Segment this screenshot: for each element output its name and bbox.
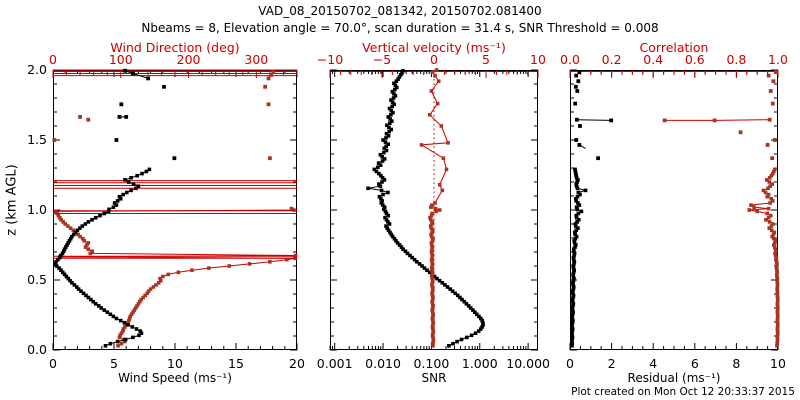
panel2-xtick-1.000: 1.000 [462, 356, 498, 371]
panel3-xtick-0: 0 [566, 356, 574, 371]
panel1-top-xtick-200: 200 [177, 52, 201, 67]
panel3-top-xtick-0.8: 0.8 [726, 52, 746, 67]
figure-title: VAD_08_20150702_081342, 20150702.081400 [258, 4, 541, 18]
panel2-top-xtick-5: 5 [482, 52, 490, 67]
panel1-x-axis-label: Wind Speed (ms⁻¹) [118, 371, 232, 385]
y-tick-1.5: 1.5 [27, 132, 47, 147]
panel3-xtick-2: 2 [608, 356, 616, 371]
plot-timestamp: Plot created on Mon Oct 12 20:33:37 2015 [571, 386, 795, 398]
panel-wind [53, 70, 297, 350]
panel1-top-xtick-0: 0 [49, 52, 57, 67]
panel1-top-axis-rule [54, 71, 296, 72]
panel2-xtick-0.100: 0.100 [414, 356, 450, 371]
figure-subtitle: Nbeams = 8, Elevation angle = 70.0°, sca… [141, 21, 658, 35]
panel2-top-axis-rule [331, 71, 537, 72]
panel1-top-xtick-300: 300 [244, 52, 268, 67]
panel1-xtick-5: 5 [110, 356, 118, 371]
panel3-top-xtick-0.4: 0.4 [643, 52, 663, 67]
panel3-xtick-4: 4 [649, 356, 657, 371]
panel2-top-xtick--5: −5 [373, 52, 391, 67]
panel3-xtick-6: 6 [691, 356, 699, 371]
panel3-top-xtick-0.0: 0.0 [560, 52, 580, 67]
panel2-xtick-10.000: 10.000 [506, 356, 550, 371]
vad-plot-figure: VAD_08_20150702_081342, 20150702.081400 … [0, 0, 800, 400]
panel-snr [330, 70, 538, 350]
panel1-top-xtick-100: 100 [109, 52, 133, 67]
panel1-xtick-10: 10 [167, 356, 183, 371]
panel3-top-axis-rule [571, 71, 777, 72]
panel3-top-xtick-1.0: 1.0 [768, 52, 788, 67]
panel3-xtick-8: 8 [732, 356, 740, 371]
panel2-top-xtick--10: −10 [317, 52, 343, 67]
y-tick-2.0: 2.0 [27, 62, 47, 77]
panel-residual [570, 70, 778, 350]
panel2-top-xtick-10: 10 [530, 52, 546, 67]
y-axis-label: z (km AGL) [5, 125, 20, 275]
y-tick-0.5: 0.5 [27, 272, 47, 287]
panel3-top-xtick-0.2: 0.2 [602, 52, 622, 67]
panel2-xtick-0.010: 0.010 [365, 356, 401, 371]
panel1-xtick-20: 20 [289, 356, 305, 371]
panel3-x-axis-label: Residual (ms⁻¹) [628, 371, 721, 385]
panel3-top-xtick-0.6: 0.6 [685, 52, 705, 67]
panel2-x-axis-label: SNR [422, 371, 447, 385]
panel2-top-xtick-0: 0 [430, 52, 438, 67]
y-tick-1.0: 1.0 [27, 202, 47, 217]
panel2-xtick-0.001: 0.001 [317, 356, 353, 371]
panel3-xtick-10: 10 [770, 356, 786, 371]
panel1-xtick-0: 0 [49, 356, 57, 371]
y-tick-0.0: 0.0 [27, 342, 47, 357]
panel1-xtick-15: 15 [228, 356, 244, 371]
